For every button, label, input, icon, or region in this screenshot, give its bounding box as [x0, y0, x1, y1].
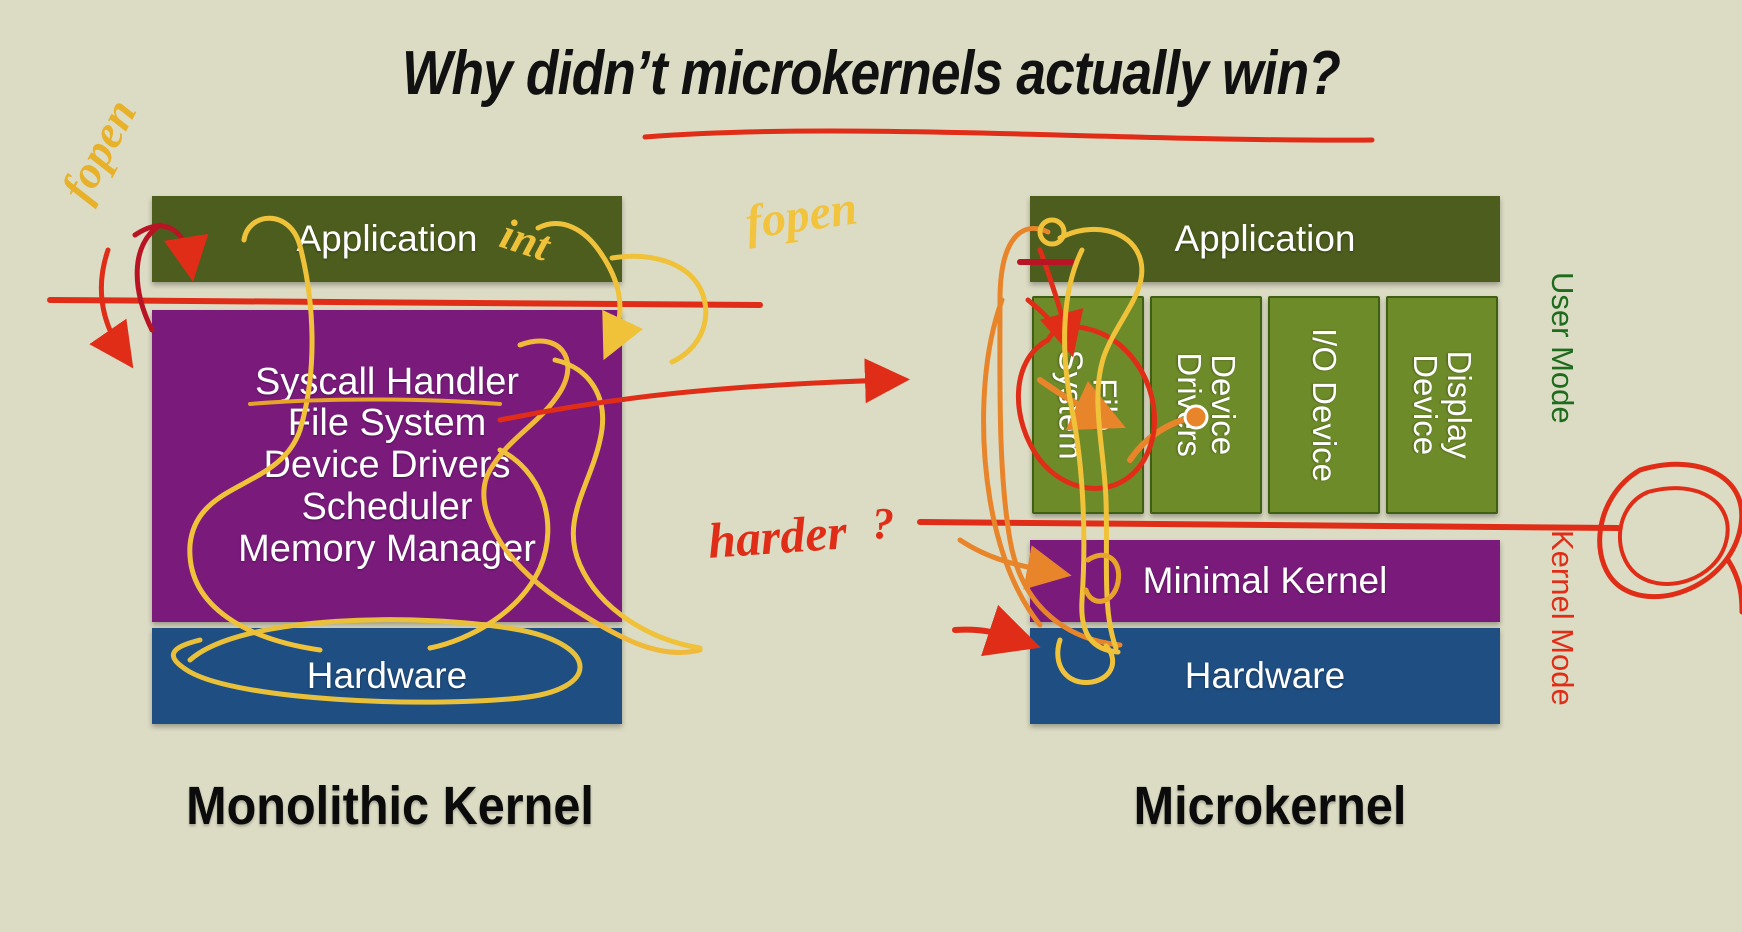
microkernel-service-file-system-label: File System: [1054, 350, 1121, 460]
monolithic-kernel-line-2: Device Drivers: [263, 445, 510, 487]
ink-yellow-int-top: [612, 256, 706, 362]
service-label-line-1: File: [1088, 350, 1122, 460]
ink-red-ellipse-outer: [1600, 464, 1742, 596]
ink-boundary-right: [920, 522, 1618, 528]
ink-harder-arrow: [955, 630, 1018, 640]
kernel-mode-label: Kernel Mode: [1544, 530, 1580, 706]
service-label-line-1: I/O Device: [1305, 328, 1343, 482]
microkernel-minimal-kernel-box: Minimal Kernel: [1030, 540, 1500, 622]
microkernel-service-io-device: I/O Device: [1268, 296, 1380, 514]
microkernel-service-file-system: File System: [1032, 296, 1144, 514]
annotation-question-mark: ?: [872, 498, 894, 549]
monolithic-application-label: Application: [296, 218, 477, 260]
service-label-line-1: Device: [1206, 353, 1240, 458]
ink-fopen-left-arrow-down: [101, 250, 122, 352]
slide-canvas: Why didn’t microkernels actually win? Ap…: [0, 0, 1742, 932]
service-label-line-1: Display: [1442, 351, 1476, 459]
monolithic-kernel-line-3: Scheduler: [301, 487, 472, 529]
monolithic-caption: Monolithic Kernel: [129, 775, 651, 837]
ink-boundary-left: [50, 300, 760, 305]
microkernel-service-device-drivers: Device Drivers: [1150, 296, 1262, 514]
ink-title-underline: [645, 131, 1372, 140]
microkernel-application-box: Application: [1030, 196, 1500, 282]
microkernel-hardware-label: Hardware: [1185, 655, 1345, 697]
monolithic-kernel-line-1: File System: [288, 403, 486, 445]
monolithic-application-box: Application: [152, 196, 622, 282]
service-label-line-2: System: [1054, 350, 1088, 460]
ink-red-tail-right: [1728, 560, 1742, 612]
microkernel-minimal-kernel-label: Minimal Kernel: [1143, 560, 1388, 602]
microkernel-service-device-drivers-label: Device Drivers: [1172, 353, 1239, 458]
microkernel-service-display-device: Display Device: [1386, 296, 1498, 514]
microkernel-service-io-device-label: I/O Device: [1305, 328, 1343, 482]
service-label-line-2: Device: [1408, 351, 1442, 459]
page-title: Why didn’t microkernels actually win?: [122, 38, 1620, 109]
monolithic-kernel-line-4: Memory Manager: [238, 529, 536, 571]
microkernel-hardware-box: Hardware: [1030, 628, 1500, 724]
monolithic-hardware-box: Hardware: [152, 628, 622, 724]
annotation-fopen-right: fopen: [742, 180, 861, 250]
annotation-harder: harder: [706, 502, 849, 570]
user-mode-label: User Mode: [1544, 272, 1580, 424]
service-label-line-2: Drivers: [1172, 353, 1206, 458]
ink-red-ellipse-inner: [1620, 488, 1728, 584]
monolithic-kernel-box: Syscall Handler File System Device Drive…: [152, 310, 622, 622]
monolithic-kernel-line-0: Syscall Handler: [255, 362, 519, 404]
microkernel-application-label: Application: [1174, 218, 1355, 260]
monolithic-hardware-label: Hardware: [307, 655, 467, 697]
microkernel-service-display-device-label: Display Device: [1408, 351, 1475, 459]
microkernel-caption: Microkernel: [1009, 775, 1531, 837]
